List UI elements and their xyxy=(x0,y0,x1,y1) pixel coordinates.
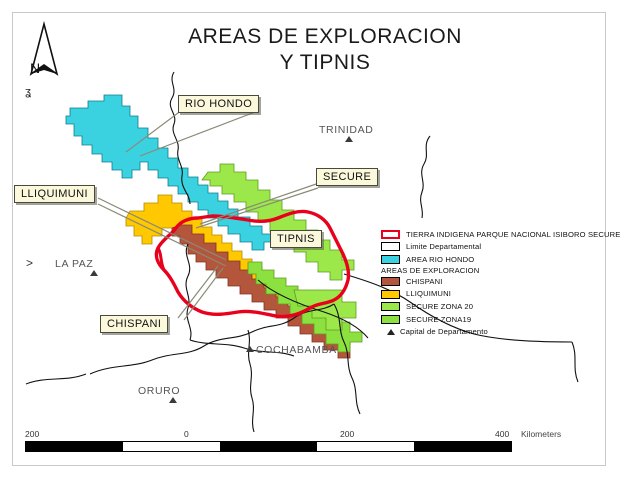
legend-row-capital: Capital de Departamento xyxy=(381,326,603,339)
leader-lliquimuni-2 xyxy=(98,204,226,266)
leader-secure xyxy=(196,188,318,228)
capital-marker-la-paz xyxy=(90,270,98,276)
legend-label-secure-zona20: SECURE ZONA 20 xyxy=(406,303,473,311)
legend-label-limite: Limite Departamental xyxy=(406,243,481,251)
legend-label-rio-hondo: AREA RIO HONDO xyxy=(406,256,474,264)
scale-bar: 200 0 200 400 Kilometers xyxy=(25,429,525,452)
legend-swatch-secure-zona20 xyxy=(381,302,400,311)
legend-swatch-tipnis xyxy=(381,230,400,239)
legend-label-capital: Capital de Departamento xyxy=(400,328,488,336)
legend-capital-triangle-icon xyxy=(381,329,400,335)
scale-tick-0: 200 xyxy=(25,429,39,439)
legend-label-tipnis: TIERRA INDIGENA PARQUE NACIONAL ISIBORO … xyxy=(406,231,620,239)
callout-lliquimuni[interactable]: LLIQUIMUNI xyxy=(14,185,95,203)
leader-lliquimuni xyxy=(98,198,226,260)
scale-segment-4 xyxy=(317,442,414,451)
callout-tipnis[interactable]: TIPNIS xyxy=(270,230,322,248)
legend-swatch-rio-hondo xyxy=(381,255,400,264)
callout-secure[interactable]: SECURE xyxy=(316,168,378,186)
leader-chispani-2 xyxy=(184,268,223,320)
legend-swatch-secure-zona19 xyxy=(381,315,400,324)
legend-row-rio-hondo: AREA RIO HONDO xyxy=(381,253,603,266)
legend-swatch-limite xyxy=(381,242,400,251)
scale-segment-1 xyxy=(26,442,123,451)
callout-chispani[interactable]: CHISPANI xyxy=(100,315,168,333)
leader-rio-hondo xyxy=(126,110,182,152)
legend-row-tipnis: TIERRA INDIGENA PARQUE NACIONAL ISIBORO … xyxy=(381,228,603,241)
map-figure: N ʓ AREAS DE EXPLORACION Y TIPNIS xyxy=(0,0,620,480)
legend-swatch-lliquimuni xyxy=(381,290,400,299)
legend-swatch-chispani xyxy=(381,277,400,286)
legend-row-secure-zona19: SECURE ZONA19 xyxy=(381,313,603,326)
lapaz-caret-mark: > xyxy=(26,256,33,270)
city-label-oruro: ORURO xyxy=(138,385,180,397)
city-label-cochabamba: COCHABAMBA xyxy=(256,344,337,356)
leader-chispani xyxy=(178,266,218,318)
scale-segment-5 xyxy=(414,442,511,451)
scale-segment-2 xyxy=(123,442,220,451)
leader-secure-2 xyxy=(200,182,322,224)
legend-row-lliquimuni: LLIQUIMUNI xyxy=(381,288,603,301)
legend-label-secure-zona19: SECURE ZONA19 xyxy=(406,316,471,324)
capital-marker-oruro xyxy=(169,397,177,403)
legend-row-limite: Limite Departamental xyxy=(381,241,603,254)
scale-unit-label: Kilometers xyxy=(521,429,561,439)
callout-rio-hondo[interactable]: RIO HONDO xyxy=(178,95,259,113)
city-label-trinidad: TRINIDAD xyxy=(319,124,373,136)
leader-rio-hondo-2 xyxy=(140,112,255,156)
scale-bar-graphic xyxy=(25,441,512,452)
legend-label-chispani: CHISPANI xyxy=(406,278,443,286)
capital-marker-cochabamba xyxy=(246,346,254,352)
scale-tick-2: 200 xyxy=(340,429,354,439)
legend-row-secure-zona20: SECURE ZONA 20 xyxy=(381,301,603,314)
scale-bar-labels: 200 0 200 400 Kilometers xyxy=(25,429,525,441)
capital-marker-trinidad xyxy=(345,136,353,142)
legend-label-lliquimuni: LLIQUIMUNI xyxy=(406,290,451,298)
scale-tick-1: 0 xyxy=(184,429,189,439)
map-legend: TIERRA INDIGENA PARQUE NACIONAL ISIBORO … xyxy=(381,228,603,339)
legend-group-header: AREAS DE EXPLORACION xyxy=(381,267,603,275)
legend-row-chispani: CHISPANI xyxy=(381,275,603,288)
city-label-la-paz: LA PAZ xyxy=(55,258,93,270)
scale-segment-3 xyxy=(220,442,317,451)
scale-tick-3: 400 xyxy=(495,429,509,439)
